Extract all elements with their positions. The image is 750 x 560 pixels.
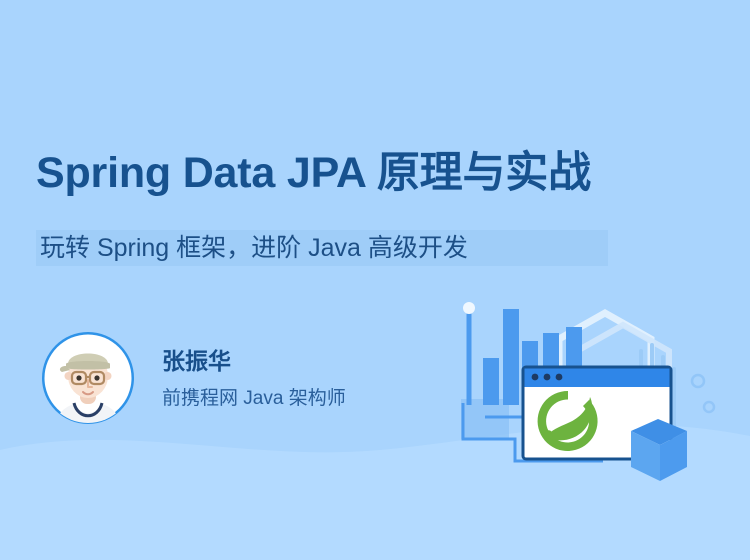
decor-circle-1 bbox=[692, 375, 704, 387]
author-text: 张振华 前携程网 Java 架构师 bbox=[162, 345, 346, 412]
page-subtitle: 玩转 Spring 框架，进阶 Java 高级开发 bbox=[36, 230, 472, 266]
page-title: Spring Data JPA 原理与实战 bbox=[36, 146, 591, 200]
cube-icon bbox=[631, 419, 687, 481]
author-block: 张振华 前携程网 Java 架构师 bbox=[40, 330, 346, 426]
decor-circle-2 bbox=[704, 402, 714, 412]
course-poster: Spring Data JPA 原理与实战 玩转 Spring 框架，进阶 Ja… bbox=[0, 0, 750, 560]
avatar bbox=[40, 330, 136, 426]
subtitle-block: 玩转 Spring 框架，进阶 Java 高级开发 bbox=[36, 230, 472, 266]
spring-illustration bbox=[455, 295, 750, 495]
window-dot bbox=[556, 374, 563, 381]
author-role: 前携程网 Java 架构师 bbox=[162, 386, 346, 412]
window-dot bbox=[532, 374, 539, 381]
author-name: 张振华 bbox=[162, 345, 346, 377]
window-dot bbox=[544, 374, 551, 381]
